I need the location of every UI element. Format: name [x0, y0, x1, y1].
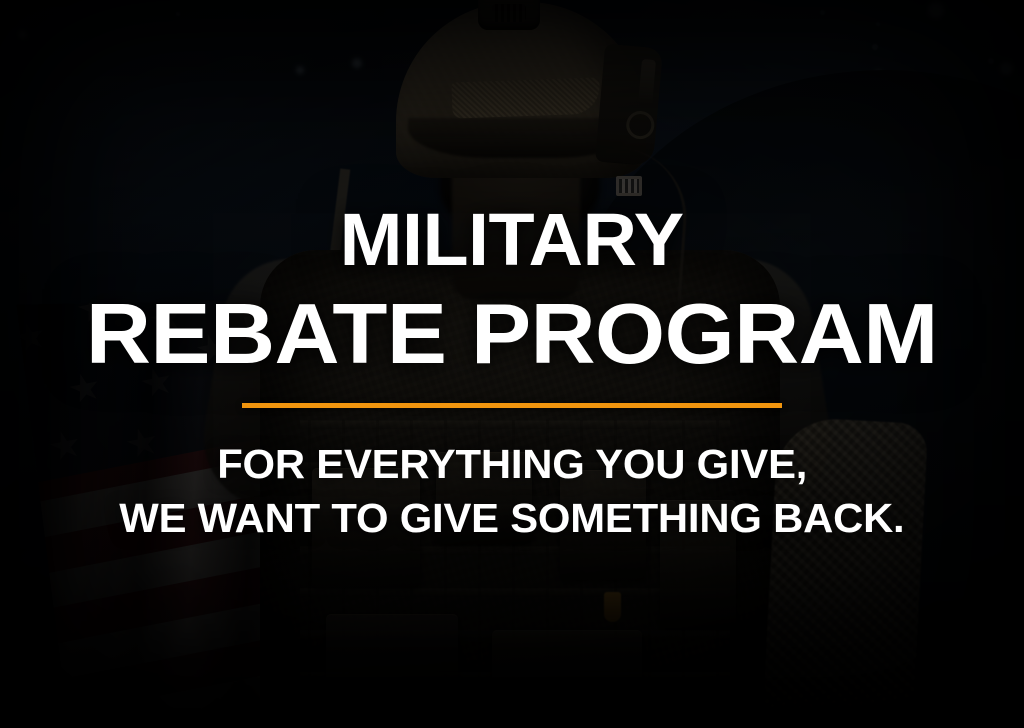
subheadline-line-2: WE WANT TO GIVE SOMETHING BACK.	[119, 496, 904, 542]
banner-content: MILITARY REBATE PROGRAM FOR EVERYTHING Y…	[0, 0, 1024, 728]
subheadline-line-1: FOR EVERYTHING YOU GIVE,	[217, 442, 807, 488]
headline-line-1: MILITARY	[340, 203, 684, 277]
headline-line-2: REBATE PROGRAM	[86, 292, 938, 377]
orange-divider	[242, 403, 782, 408]
divider-row	[0, 403, 1024, 408]
military-rebate-banner: MILITARY REBATE PROGRAM FOR EVERYTHING Y…	[0, 0, 1024, 728]
